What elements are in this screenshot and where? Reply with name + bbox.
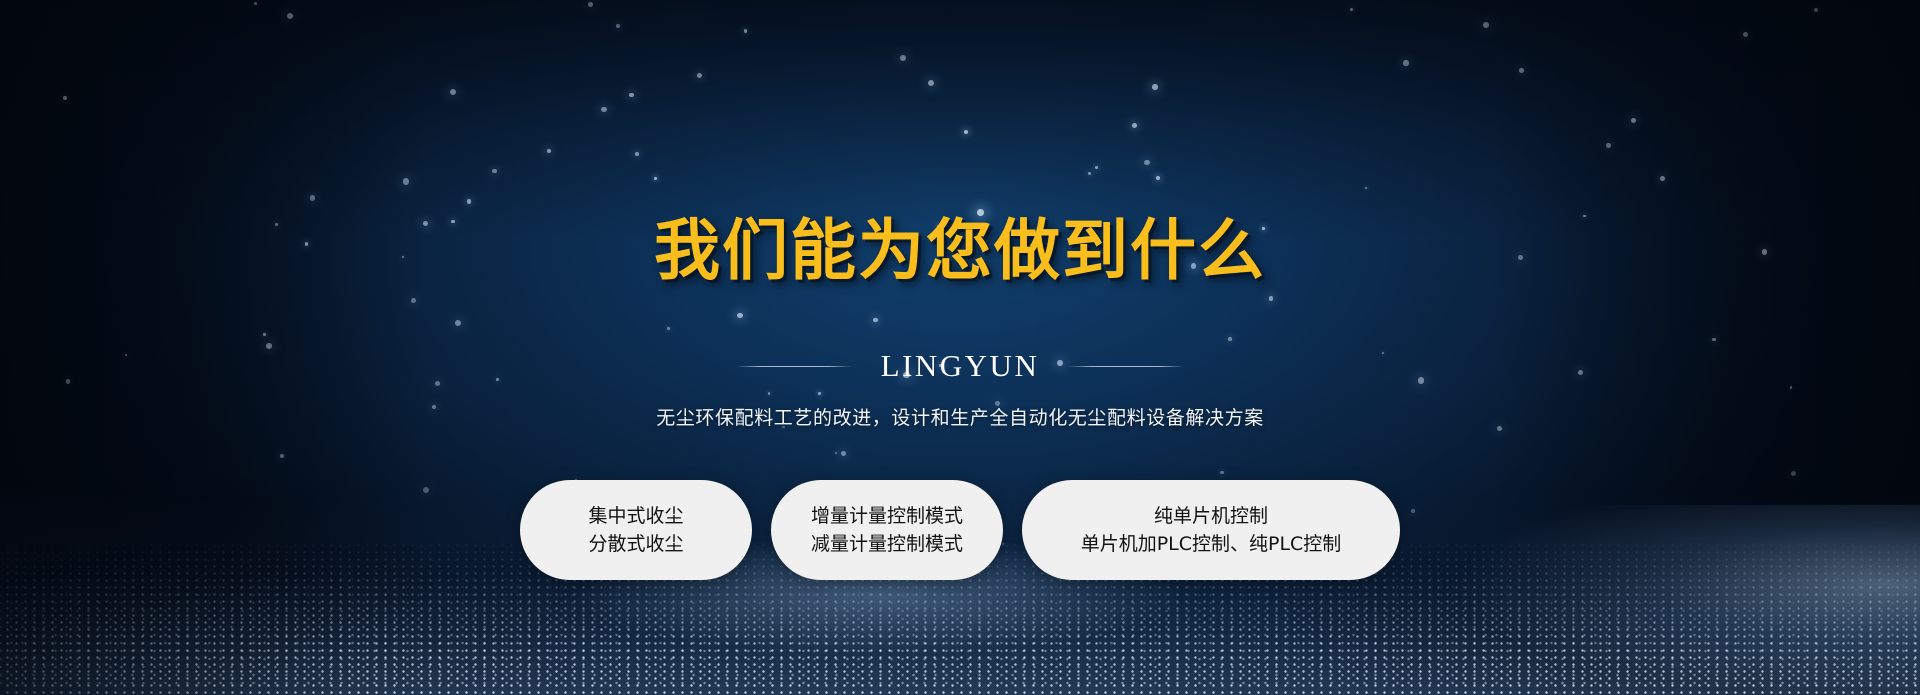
pill-line-1: 增量计量控制模式 (811, 507, 963, 526)
pill-line-2: 单片机加PLC控制、纯PLC控制 (1081, 535, 1342, 554)
pill-line-2: 减量计量控制模式 (811, 535, 963, 554)
subtitle-text: 无尘环保配料工艺的改进，设计和生产全自动化无尘配料设备解决方案 (656, 403, 1264, 430)
feature-pill-dust-collection[interactable]: 集中式收尘 分散式收尘 (520, 480, 752, 580)
brand-divider-right (1067, 366, 1185, 367)
feature-pill-group: 集中式收尘 分散式收尘 增量计量控制模式 减量计量控制模式 纯单片机控制 单片机… (520, 480, 1400, 580)
pill-line-1: 集中式收尘 (588, 507, 683, 526)
banner-content: 我们能为您做到什么 LINGYUN 无尘环保配料工艺的改进，设计和生产全自动化无… (0, 0, 1920, 695)
feature-pill-control-system[interactable]: 纯单片机控制 单片机加PLC控制、纯PLC控制 (1022, 480, 1400, 580)
brand-name: LINGYUN (881, 348, 1040, 384)
brand-row: LINGYUN (735, 348, 1186, 384)
page-title: 我们能为您做到什么 (654, 218, 1266, 284)
brand-divider-left (735, 366, 853, 367)
pill-line-1: 纯单片机控制 (1154, 507, 1268, 526)
pill-line-2: 分散式收尘 (588, 535, 683, 554)
hero-banner: 我们能为您做到什么 LINGYUN 无尘环保配料工艺的改进，设计和生产全自动化无… (0, 0, 1920, 695)
feature-pill-metering-mode[interactable]: 增量计量控制模式 减量计量控制模式 (771, 480, 1003, 580)
